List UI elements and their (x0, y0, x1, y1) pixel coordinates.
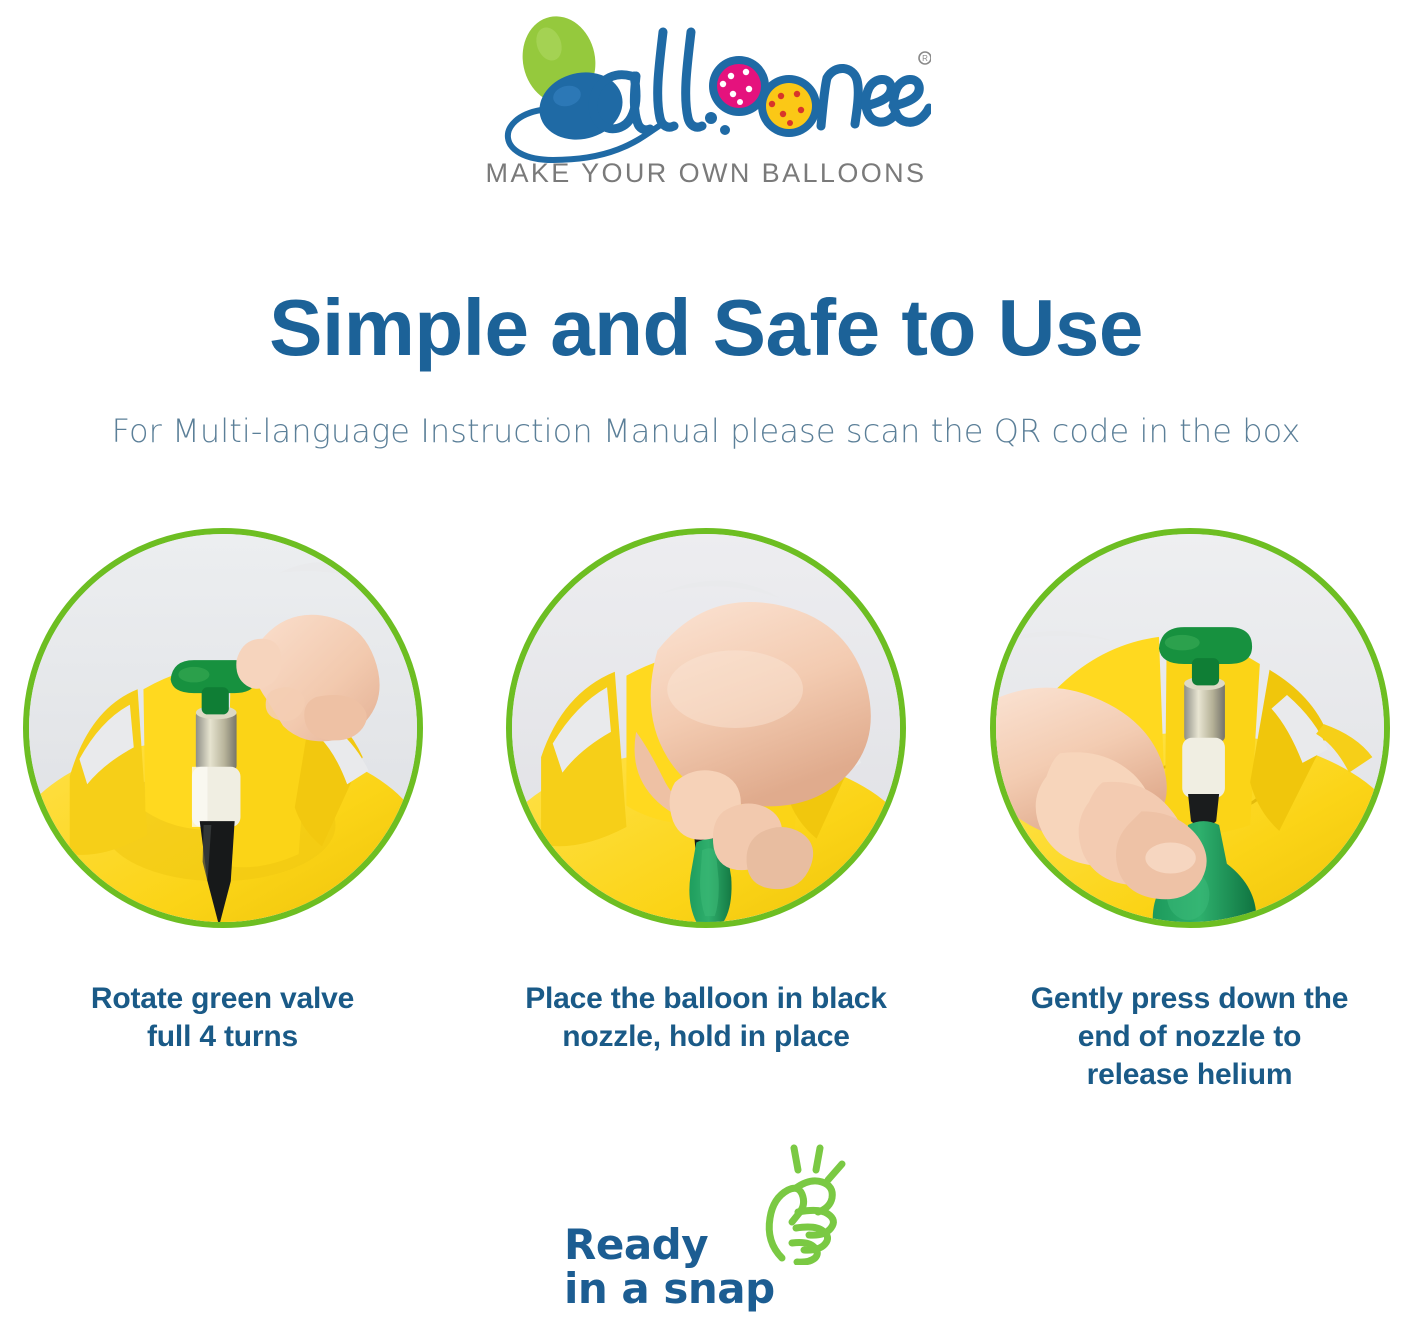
step-3-caption: Gently press down the end of nozzle to r… (1031, 980, 1349, 1094)
page-subtitle: For Multi-language Instruction Manual pl… (0, 412, 1412, 450)
step-3-caption-line-3: release helium (1031, 1056, 1349, 1094)
step-2-caption-line-2: nozzle, hold in place (525, 1018, 887, 1056)
step-2: Place the balloon in black nozzle, hold … (504, 528, 909, 1094)
step-2-photo (506, 528, 906, 928)
step-1: Rotate green valve full 4 turns (20, 528, 425, 1094)
step-1-caption-line-2: full 4 turns (91, 1018, 354, 1056)
pressing-nozzle-image (996, 534, 1384, 922)
step-3: Gently press down the end of nozzle to r… (987, 528, 1392, 1094)
step-2-caption: Place the balloon in black nozzle, hold … (525, 980, 887, 1056)
step-1-photo (23, 528, 423, 928)
page-title: Simple and Safe to Use (0, 288, 1412, 368)
hand-rotating-valve-image (29, 534, 417, 922)
hand-placing-balloon-image (512, 534, 900, 922)
step-1-caption: Rotate green valve full 4 turns (91, 980, 354, 1056)
step-2-caption-line-1: Place the balloon in black (525, 980, 887, 1018)
snap-line-1: Ready (564, 1223, 775, 1267)
logo-mark: R (481, 14, 931, 164)
step-3-caption-line-1: Gently press down the (1031, 980, 1349, 1018)
balloonee-wordmark-icon: R (481, 14, 931, 164)
step-3-caption-line-2: end of nozzle to (1031, 1018, 1349, 1056)
step-3-photo (990, 528, 1390, 928)
step-1-caption-line-1: Rotate green valve (91, 980, 354, 1018)
brand-logo: R MAKE YOUR OWN BALLOONS (0, 14, 1412, 214)
snap-text: Ready in a snap (564, 1223, 775, 1311)
snap-line-2: in a snap (564, 1267, 775, 1311)
svg-text:R: R (922, 54, 928, 63)
ready-in-a-snap-badge: Ready in a snap (0, 1140, 1412, 1315)
instruction-steps: Rotate green valve full 4 turns (0, 528, 1412, 1094)
